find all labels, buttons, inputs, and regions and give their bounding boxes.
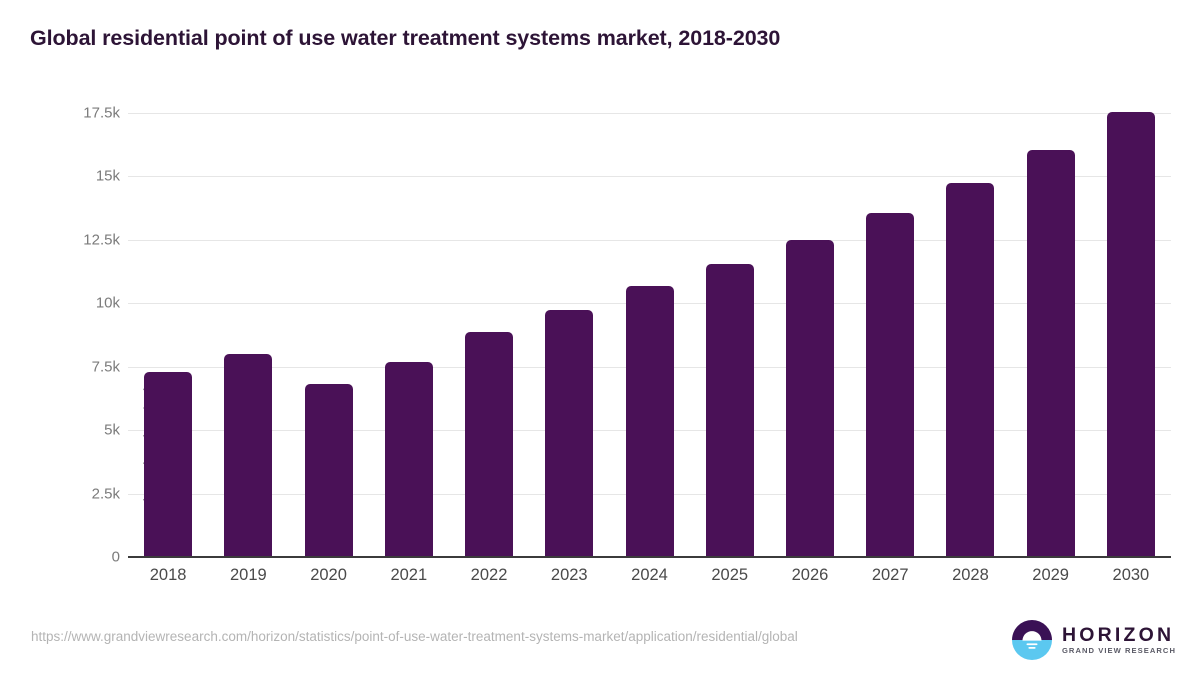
- x-tick-label: 2025: [690, 566, 770, 585]
- y-tick-label: 0: [48, 549, 120, 566]
- source-url[interactable]: https://www.grandviewresearch.com/horizo…: [31, 628, 931, 646]
- x-tick-label: 2023: [529, 566, 609, 585]
- x-tick-label: 2027: [850, 566, 930, 585]
- y-tick-label: 5k: [48, 422, 120, 439]
- x-tick-label: 2020: [289, 566, 369, 585]
- x-tick-label: 2029: [1011, 566, 1091, 585]
- y-tick-label: 10k: [48, 295, 120, 312]
- logo-name: HORIZON: [1062, 625, 1176, 645]
- y-tick-label: 17.5k: [48, 105, 120, 122]
- x-tick-label: 2024: [610, 566, 690, 585]
- horizon-logo[interactable]: HORIZON GRAND VIEW RESEARCH: [1011, 617, 1176, 663]
- y-tick-label: 12.5k: [48, 231, 120, 248]
- x-tick-label: 2022: [449, 566, 529, 585]
- y-tick-label: 15k: [48, 168, 120, 185]
- x-tick-label: 2030: [1091, 566, 1171, 585]
- logo-tagline: GRAND VIEW RESEARCH: [1062, 645, 1176, 656]
- logo-text: HORIZON GRAND VIEW RESEARCH: [1062, 625, 1176, 656]
- chart-card: Global residential point of use water tr…: [0, 0, 1200, 675]
- horizon-sunrise-circle-icon: [1011, 619, 1053, 661]
- x-axis-tick-labels: 2018201920202021202220232024202520262027…: [128, 0, 1171, 675]
- x-tick-label: 2026: [770, 566, 850, 585]
- y-tick-label: 7.5k: [48, 358, 120, 375]
- y-axis-tick-labels: 02.5k5k7.5k10k12.5k15k17.5k: [40, 0, 120, 675]
- x-tick-label: 2021: [369, 566, 449, 585]
- x-tick-label: 2019: [208, 566, 288, 585]
- y-tick-label: 2.5k: [48, 485, 120, 502]
- x-tick-label: 2018: [128, 566, 208, 585]
- x-tick-label: 2028: [930, 566, 1010, 585]
